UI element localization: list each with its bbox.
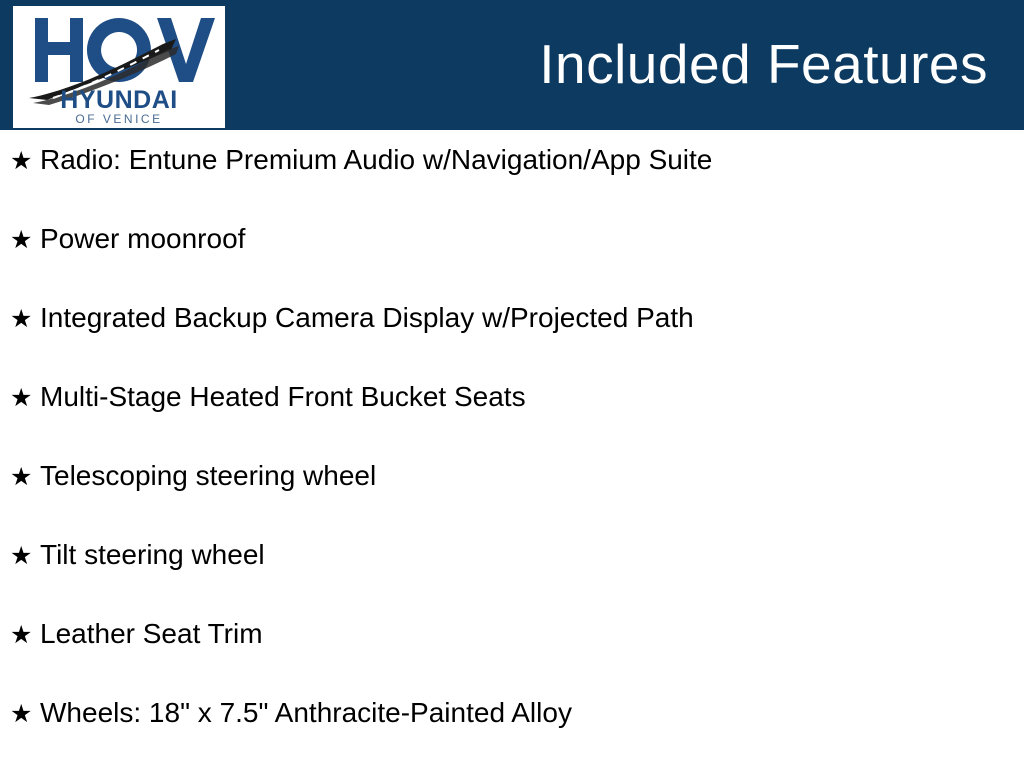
feature-label: Wheels: 18" x 7.5" Anthracite-Painted Al…: [40, 697, 1014, 729]
star-bullet-icon: ★: [10, 385, 40, 410]
list-item: ★ Wheels: 18" x 7.5" Anthracite-Painted …: [10, 695, 1014, 731]
feature-label: Integrated Backup Camera Display w/Proje…: [40, 302, 1014, 334]
feature-label: Power moonroof: [40, 223, 1014, 255]
list-item: ★ Multi-Stage Heated Front Bucket Seats: [10, 379, 1014, 415]
feature-label: Telescoping steering wheel: [40, 460, 1014, 492]
star-bullet-icon: ★: [10, 464, 40, 489]
list-item: ★ Radio: Entune Premium Audio w/Navigati…: [10, 142, 1014, 178]
hov-logo-icon: HYUNDAI OF VENICE: [13, 6, 225, 128]
list-item: ★ Leather Seat Trim: [10, 616, 1014, 652]
included-features-list: ★ Radio: Entune Premium Audio w/Navigati…: [0, 130, 1024, 768]
star-bullet-icon: ★: [10, 227, 40, 252]
list-item: ★ Tilt steering wheel: [10, 537, 1014, 573]
dealer-logo: HYUNDAI OF VENICE: [13, 6, 225, 128]
logo-artwork: HYUNDAI OF VENICE: [13, 6, 225, 128]
star-bullet-icon: ★: [10, 701, 40, 726]
list-item: ★ Power moonroof: [10, 221, 1014, 257]
star-bullet-icon: ★: [10, 306, 40, 331]
star-bullet-icon: ★: [10, 148, 40, 173]
star-bullet-icon: ★: [10, 622, 40, 647]
feature-label: Radio: Entune Premium Audio w/Navigation…: [40, 144, 1014, 176]
svg-text:HYUNDAI: HYUNDAI: [60, 86, 177, 114]
feature-label: Tilt steering wheel: [40, 539, 1014, 571]
feature-label: Multi-Stage Heated Front Bucket Seats: [40, 381, 1014, 413]
list-item: ★ Integrated Backup Camera Display w/Pro…: [10, 300, 1014, 336]
list-item: ★ Telescoping steering wheel: [10, 458, 1014, 494]
star-bullet-icon: ★: [10, 543, 40, 568]
page-title: Included Features: [539, 36, 988, 94]
feature-label: Leather Seat Trim: [40, 618, 1014, 650]
slide-header: HYUNDAI OF VENICE Included Features: [0, 0, 1024, 130]
svg-text:OF VENICE: OF VENICE: [75, 112, 162, 126]
